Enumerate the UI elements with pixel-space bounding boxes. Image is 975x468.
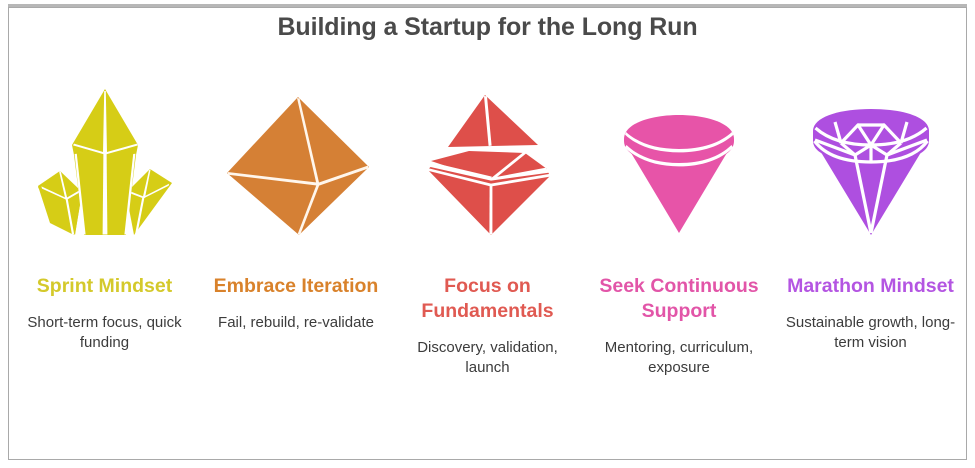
octahedron-gem-icon bbox=[201, 78, 392, 248]
column-sprint-mindset: Sprint Mindset Short-term focus, quick f… bbox=[9, 78, 200, 353]
column-heading: Seek Continuous Support bbox=[584, 274, 775, 324]
crystal-cluster-icon bbox=[9, 78, 200, 248]
column-caption: Sustainable growth, long-term vision bbox=[775, 313, 966, 353]
column-caption: Discovery, validation, launch bbox=[392, 338, 583, 378]
column-heading: Sprint Mindset bbox=[31, 274, 178, 299]
infographic-canvas: Building a Startup for the Long Run bbox=[0, 0, 975, 468]
brilliant-diamond-icon bbox=[775, 78, 966, 248]
column-caption: Mentoring, curriculum, exposure bbox=[584, 338, 775, 378]
column-focus-on-fundamentals: Focus on Fundamentals Discovery, validat… bbox=[392, 78, 583, 378]
column-heading: Marathon Mindset bbox=[781, 274, 960, 299]
column-caption: Fail, rebuild, re-validate bbox=[214, 313, 378, 333]
column-embrace-iteration: Embrace Iteration Fail, rebuild, re-vali… bbox=[201, 78, 392, 333]
columns-row: Sprint Mindset Short-term focus, quick f… bbox=[9, 78, 966, 378]
round-cut-gem-icon bbox=[584, 78, 775, 248]
page-title: Building a Startup for the Long Run bbox=[0, 13, 975, 42]
column-caption: Short-term focus, quick funding bbox=[9, 313, 200, 353]
column-heading: Focus on Fundamentals bbox=[392, 274, 583, 324]
column-seek-continuous-support: Seek Continuous Support Mentoring, curri… bbox=[584, 78, 775, 378]
split-gem-icon bbox=[392, 78, 583, 248]
column-marathon-mindset: Marathon Mindset Sustainable growth, lon… bbox=[775, 78, 966, 353]
column-heading: Embrace Iteration bbox=[208, 274, 385, 299]
